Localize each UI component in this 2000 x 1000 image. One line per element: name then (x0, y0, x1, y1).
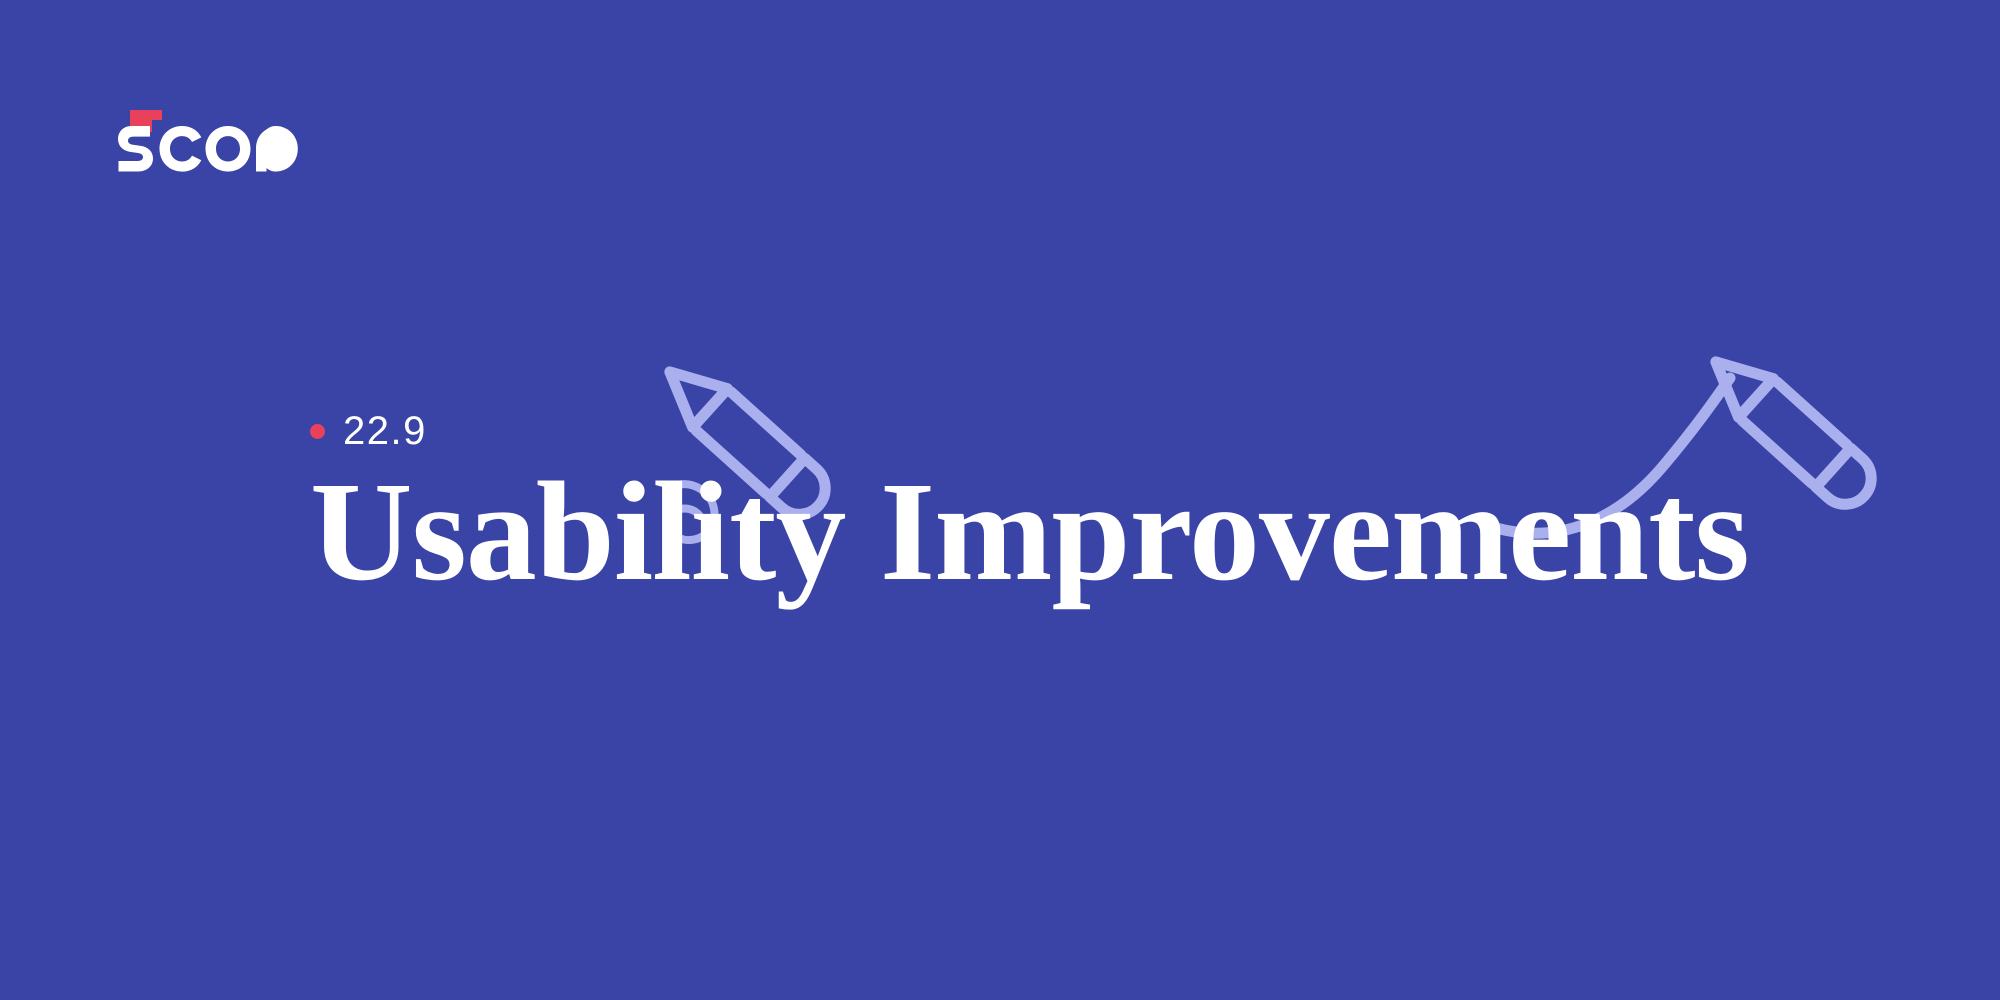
logo-letter-o2 (260, 126, 298, 172)
title-block: 22.9 Usability Improvements (310, 408, 1870, 602)
scoro-logo[interactable] (118, 110, 298, 172)
hero-banner: 22.9 Usability Improvements (0, 0, 2000, 1000)
logo-letter-s (118, 126, 153, 172)
version-label: 22.9 (343, 411, 427, 451)
page-title: Usability Improvements (310, 460, 1870, 602)
logo-letter-o1 (206, 126, 251, 172)
version-bullet-dot (310, 424, 325, 439)
version-row: 22.9 (310, 408, 1870, 454)
logo-letter-c (160, 126, 202, 172)
